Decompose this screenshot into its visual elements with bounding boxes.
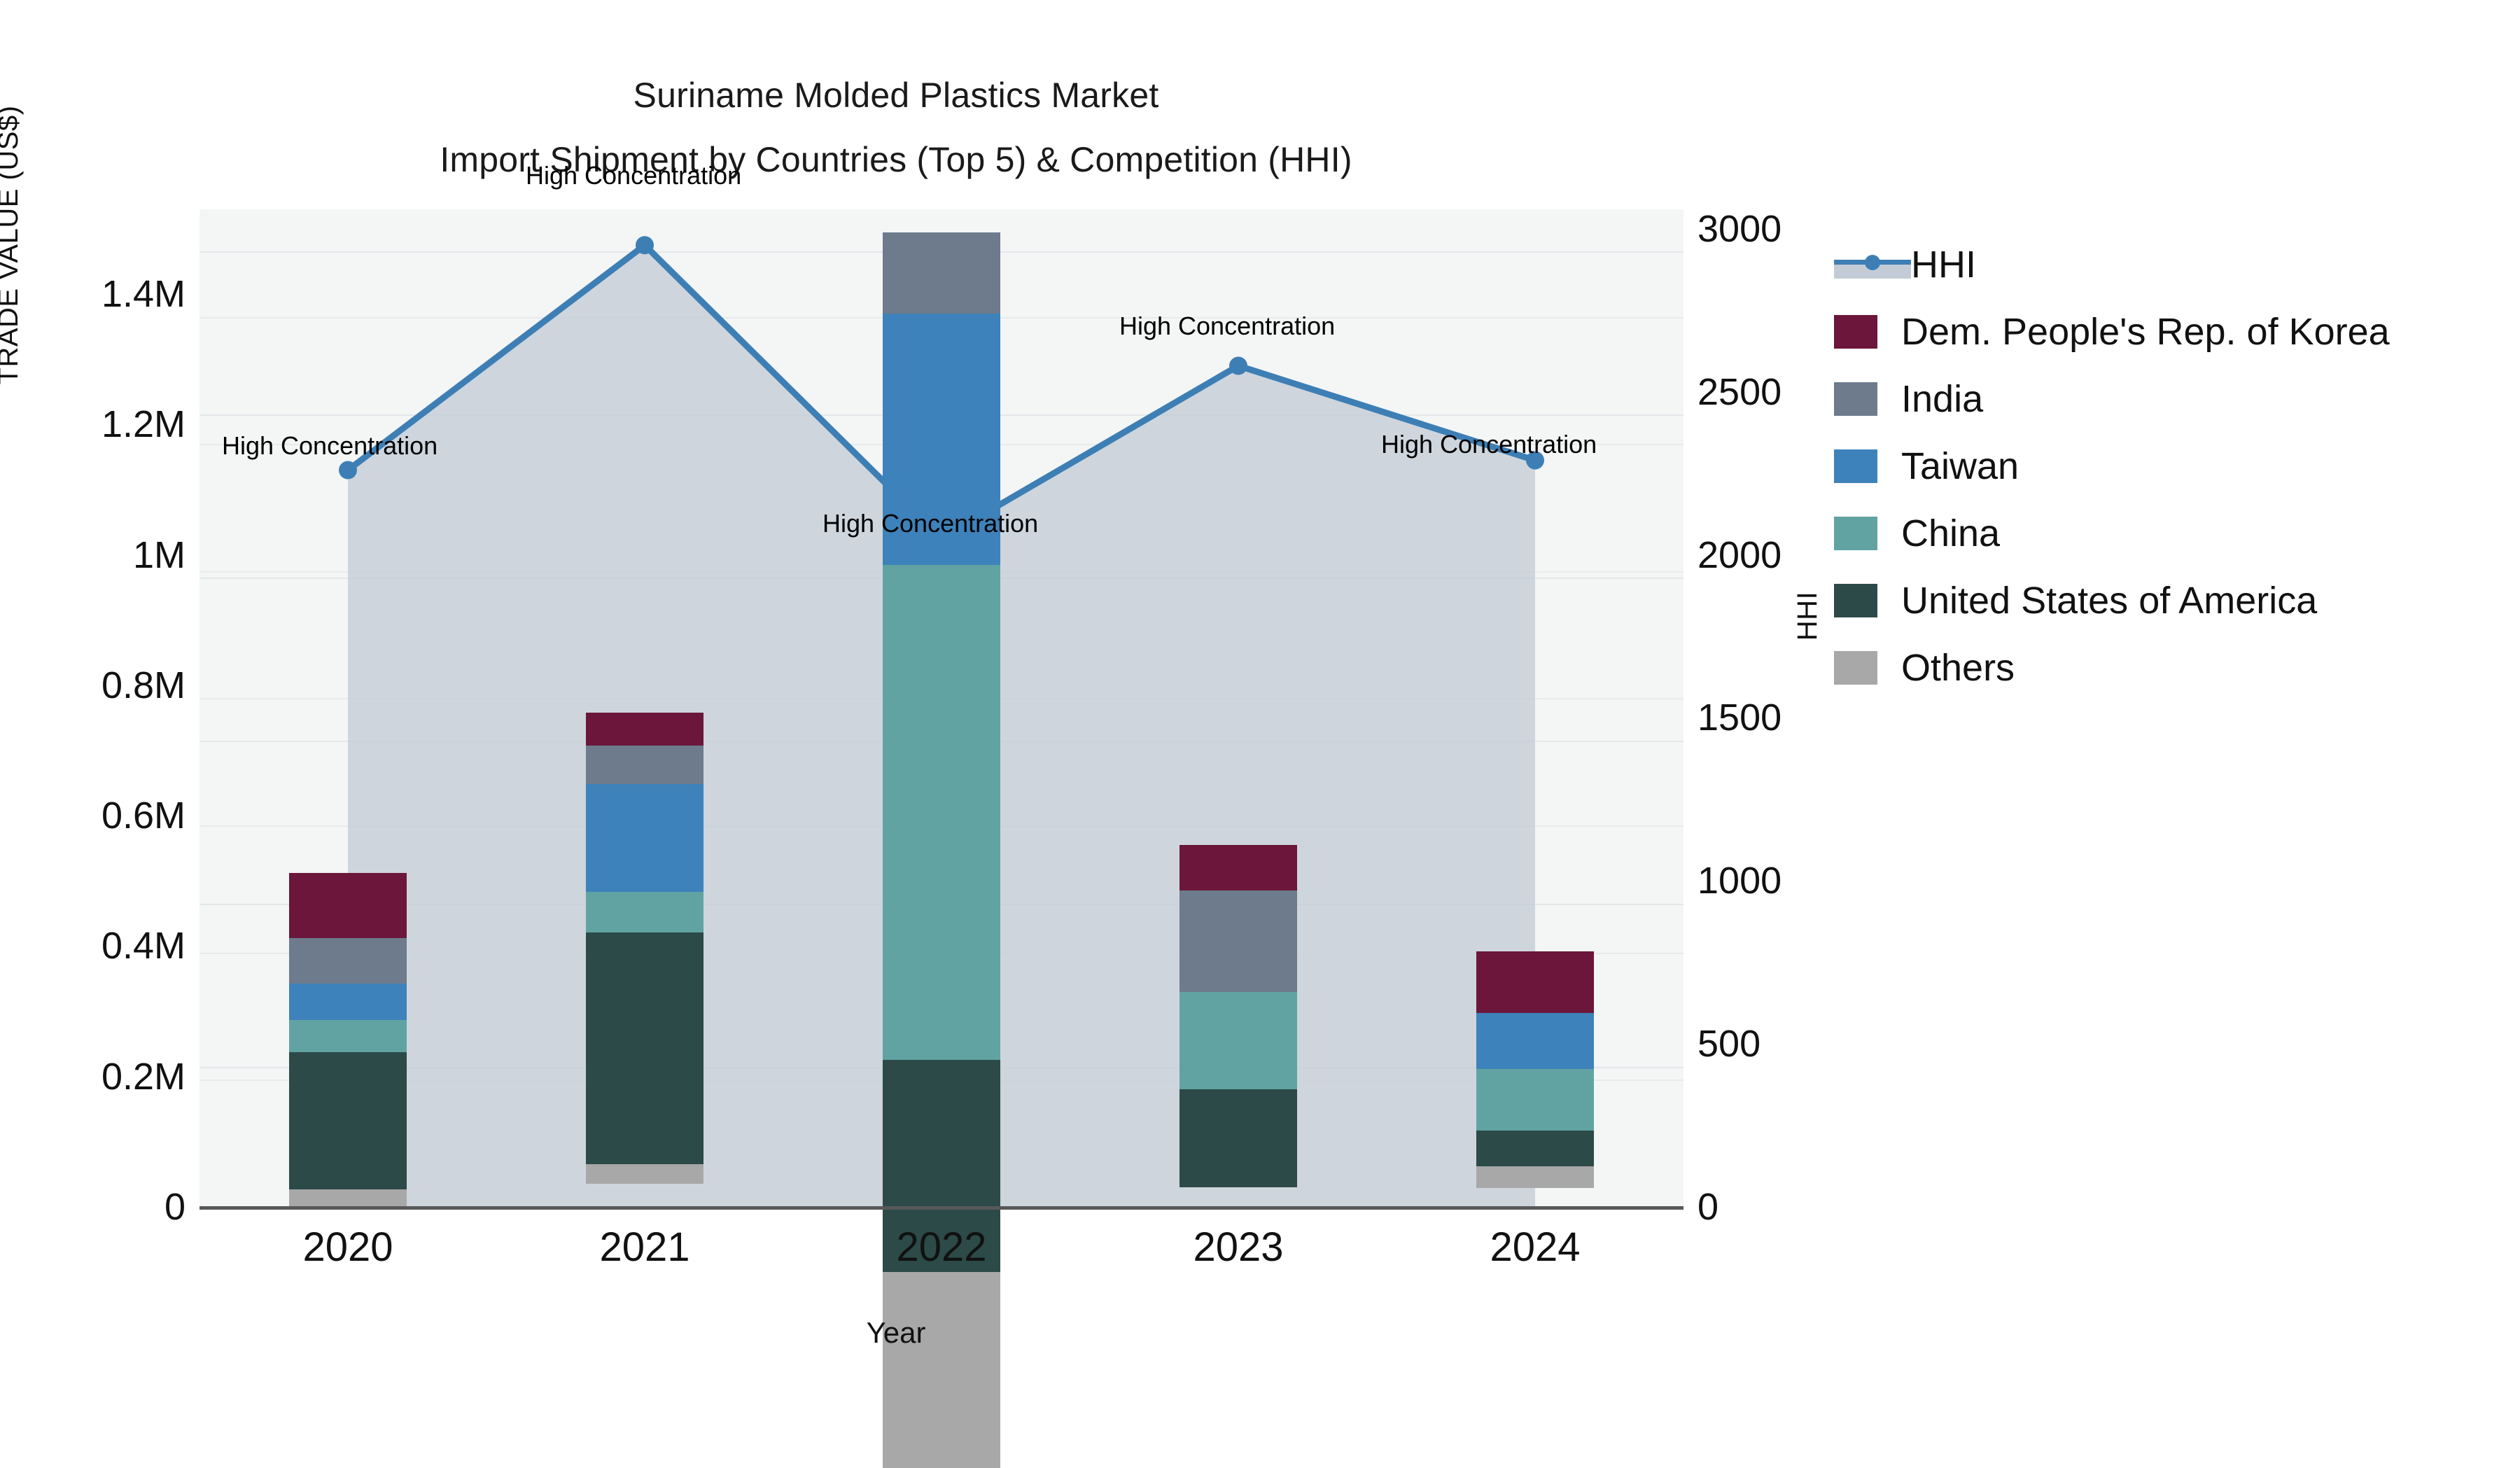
bar-segment[interactable] bbox=[289, 1189, 407, 1207]
y-tick-right: 1500 bbox=[1697, 699, 1879, 736]
legend-item-dem-people-s-rep-of-korea[interactable]: Dem. People's Rep. of Korea bbox=[1834, 298, 2506, 365]
annotation-high-concentration-2020: High Concentration bbox=[222, 431, 437, 461]
legend-item-united-states-of-america[interactable]: United States of America bbox=[1834, 567, 2506, 634]
legend-swatch-icon bbox=[1834, 382, 1877, 416]
y-axis-right-label: HHI bbox=[1792, 525, 1823, 707]
bar-segment[interactable] bbox=[289, 1052, 407, 1189]
y-axis-left-label: TRADE VALUE (US$) bbox=[0, 0, 24, 490]
legend-item-hhi[interactable]: HHI bbox=[1834, 231, 2506, 298]
bar-segment[interactable] bbox=[586, 784, 703, 892]
bar-segment[interactable] bbox=[1179, 992, 1297, 1090]
legend-item-label: HHI bbox=[1911, 244, 1976, 285]
legend-swatch-icon bbox=[1834, 584, 1877, 617]
x-tick-2021: 2021 bbox=[498, 1224, 792, 1271]
bar-segment[interactable] bbox=[1476, 1013, 1594, 1068]
annotation-high-concentration-2023: High Concentration bbox=[1119, 312, 1335, 341]
bar-group-2023[interactable] bbox=[1179, 845, 1297, 1207]
bar-segment[interactable] bbox=[1179, 845, 1297, 890]
bar-segment[interactable] bbox=[586, 746, 703, 785]
legend-swatch-icon bbox=[1834, 315, 1877, 349]
legend-item-label: Others bbox=[1901, 648, 2015, 688]
legend-swatch-icon bbox=[1834, 517, 1877, 550]
bar-segment[interactable] bbox=[586, 713, 703, 746]
bar-segment[interactable] bbox=[883, 565, 1000, 1061]
y-tick-left: 1.4M bbox=[0, 275, 185, 313]
chart-title-line-1: Suriname Molded Plastics Market bbox=[0, 63, 1792, 127]
annotation-high-concentration-2024: High Concentration bbox=[1381, 430, 1597, 459]
y-tick-left: 0.4M bbox=[0, 927, 185, 965]
bar-segment[interactable] bbox=[883, 1272, 1000, 1467]
y-tick-left: 0 bbox=[0, 1188, 185, 1226]
y-tick-left: 1M bbox=[0, 536, 185, 574]
x-axis-spine bbox=[199, 1206, 1683, 1210]
x-axis-label: Year bbox=[0, 1316, 1792, 1350]
legend-item-label: China bbox=[1901, 513, 2000, 554]
bar-segment[interactable] bbox=[1179, 1089, 1297, 1187]
bar-group-2021[interactable] bbox=[586, 713, 703, 1207]
legend-item-label: India bbox=[1901, 379, 1983, 419]
annotation-high-concentration-2022: High Concentration bbox=[822, 509, 1038, 538]
x-tick-2022: 2022 bbox=[794, 1224, 1088, 1271]
bar-segment[interactable] bbox=[1179, 890, 1297, 991]
annotation-high-concentration-2021: High Concentration bbox=[526, 161, 741, 190]
legend-item-label: Dem. People's Rep. of Korea bbox=[1901, 312, 2390, 352]
legend-swatch-icon bbox=[1834, 651, 1877, 685]
legend-item-label: Taiwan bbox=[1901, 446, 2019, 487]
bar-group-2024[interactable] bbox=[1476, 951, 1594, 1207]
bar-segment[interactable] bbox=[883, 232, 1000, 314]
bar-segment[interactable] bbox=[1476, 1131, 1594, 1166]
chart-canvas: Suriname Molded Plastics Market Import S… bbox=[0, 0, 2520, 1418]
bar-segment[interactable] bbox=[586, 1164, 703, 1184]
bar-segment[interactable] bbox=[289, 984, 407, 1020]
bar-segment[interactable] bbox=[1476, 1069, 1594, 1131]
y-tick-left: 0.8M bbox=[0, 666, 185, 704]
y-tick-left: 1.2M bbox=[0, 405, 185, 443]
legend-item-china[interactable]: China bbox=[1834, 500, 2506, 567]
hhi-marker[interactable] bbox=[1229, 357, 1247, 375]
bar-segment[interactable] bbox=[1476, 951, 1594, 1013]
hhi-marker[interactable] bbox=[339, 461, 357, 480]
x-tick-2024: 2024 bbox=[1388, 1224, 1682, 1271]
bar-group-2022[interactable] bbox=[883, 232, 1000, 1207]
x-tick-2020: 2020 bbox=[201, 1224, 495, 1271]
y-tick-left: 0.2M bbox=[0, 1058, 185, 1096]
y-tick-right: 1000 bbox=[1697, 862, 1879, 900]
legend-swatch-icon bbox=[1834, 449, 1877, 483]
bar-segment[interactable] bbox=[586, 932, 703, 1164]
hhi-marker[interactable] bbox=[636, 236, 654, 254]
bar-segment[interactable] bbox=[1476, 1166, 1594, 1188]
bar-segment[interactable] bbox=[289, 1020, 407, 1053]
bar-segment[interactable] bbox=[289, 938, 407, 983]
chart-title-line-2: Import Shipment by Countries (Top 5) & C… bbox=[0, 127, 1792, 192]
x-tick-2023: 2023 bbox=[1091, 1224, 1385, 1271]
legend-swatch-line-icon bbox=[1834, 248, 1911, 281]
legend: HHIDem. People's Rep. of KoreaIndiaTaiwa… bbox=[1834, 231, 2506, 701]
bar-segment[interactable] bbox=[586, 892, 703, 932]
chart-title: Suriname Molded Plastics Market Import S… bbox=[0, 63, 1792, 192]
legend-item-india[interactable]: India bbox=[1834, 365, 2506, 433]
bar-segment[interactable] bbox=[289, 873, 407, 938]
legend-item-others[interactable]: Others bbox=[1834, 634, 2506, 701]
bar-group-2020[interactable] bbox=[289, 873, 407, 1207]
y-tick-right: 500 bbox=[1697, 1025, 1879, 1063]
y-tick-right: 0 bbox=[1697, 1188, 1879, 1226]
legend-item-taiwan[interactable]: Taiwan bbox=[1834, 433, 2506, 500]
y-tick-left: 0.6M bbox=[0, 797, 185, 834]
legend-item-label: United States of America bbox=[1901, 580, 2317, 621]
